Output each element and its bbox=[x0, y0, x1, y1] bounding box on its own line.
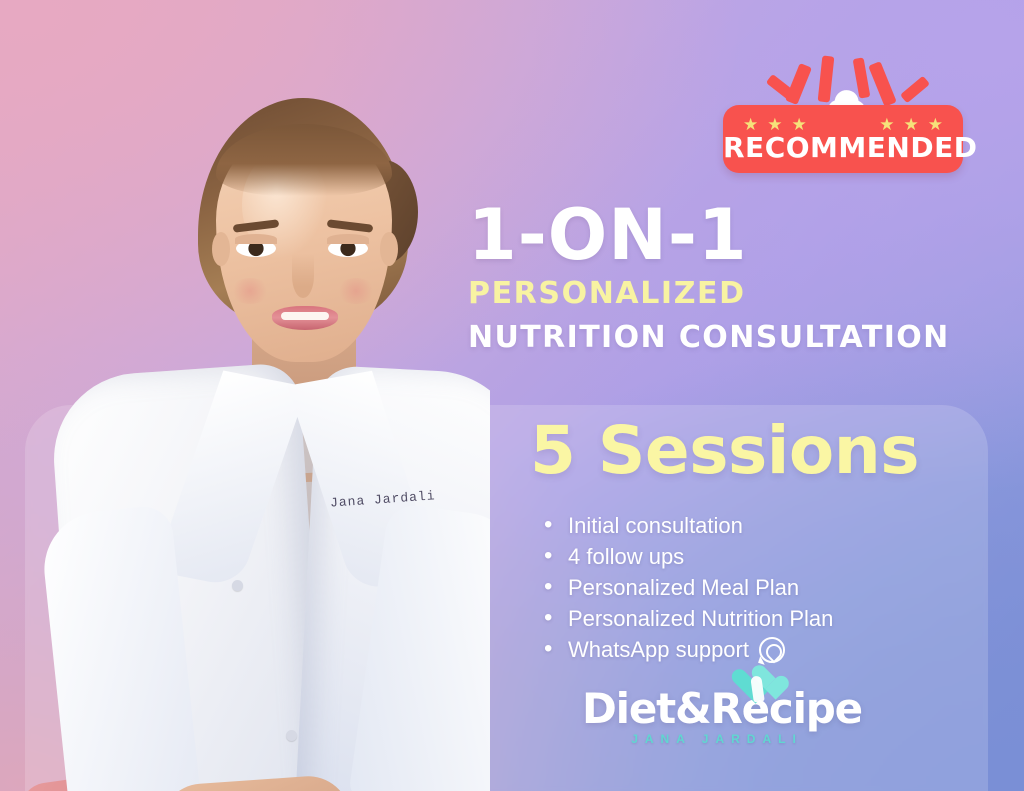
headline-line-2: PERSONALIZED bbox=[468, 279, 978, 309]
sessions-title: 5 Sessions bbox=[530, 418, 980, 484]
cheek-right bbox=[336, 278, 376, 304]
feature-list: Initial consultation4 follow upsPersonal… bbox=[530, 510, 980, 665]
ear-left bbox=[212, 232, 230, 266]
coat-button-2 bbox=[286, 730, 297, 741]
whatsapp-tail bbox=[758, 656, 767, 665]
feature-item: Personalized Meal Plan bbox=[530, 572, 980, 603]
promo-poster: Jana Jardali ★ ★ ★ ★ ★ ★ RECOMMENDED bbox=[0, 0, 1024, 791]
brand-name: Diet&Recipe bbox=[582, 688, 852, 730]
feature-label: Initial consultation bbox=[568, 510, 743, 541]
burst-ray-icon bbox=[900, 76, 930, 104]
double-heart-spoon-icon bbox=[732, 666, 788, 702]
headline-line-1: 1-ON-1 bbox=[468, 200, 978, 270]
whatsapp-icon[interactable] bbox=[759, 637, 785, 663]
eyelid-left bbox=[235, 234, 277, 244]
feature-label: Personalized Meal Plan bbox=[568, 572, 799, 603]
nutritionist-photo: Jana Jardali bbox=[20, 40, 490, 791]
brand-tagline: JANA JARDALI bbox=[582, 732, 852, 746]
teeth-shape bbox=[281, 312, 329, 320]
offer-block: 5 Sessions Initial consultation4 follow … bbox=[530, 418, 980, 665]
brand-logo: Diet&Recipe JANA JARDALI bbox=[582, 688, 852, 746]
burst-ray-icon bbox=[868, 61, 897, 107]
cheek-left bbox=[230, 278, 270, 304]
eyelid-right bbox=[327, 234, 369, 244]
feature-label: WhatsApp support bbox=[568, 634, 749, 665]
coat-button-1 bbox=[232, 580, 243, 591]
ear-right bbox=[380, 232, 398, 266]
feature-item: 4 follow ups bbox=[530, 541, 980, 572]
nose-shape bbox=[292, 254, 314, 298]
badge-label: RECOMMENDED bbox=[723, 131, 963, 164]
feature-label: 4 follow ups bbox=[568, 541, 684, 572]
feature-item: Initial consultation bbox=[530, 510, 980, 541]
feature-item: Personalized Nutrition Plan bbox=[530, 603, 980, 634]
feature-item: WhatsApp support bbox=[530, 634, 980, 665]
headline-line-3: NUTRITION CONSULTATION bbox=[468, 323, 978, 353]
feature-label: Personalized Nutrition Plan bbox=[568, 603, 833, 634]
recommended-badge: ★ ★ ★ ★ ★ ★ RECOMMENDED bbox=[708, 52, 964, 178]
badge-plate: ★ ★ ★ ★ ★ ★ RECOMMENDED bbox=[723, 105, 963, 173]
headline-block: 1-ON-1 PERSONALIZED NUTRITION CONSULTATI… bbox=[468, 200, 978, 353]
